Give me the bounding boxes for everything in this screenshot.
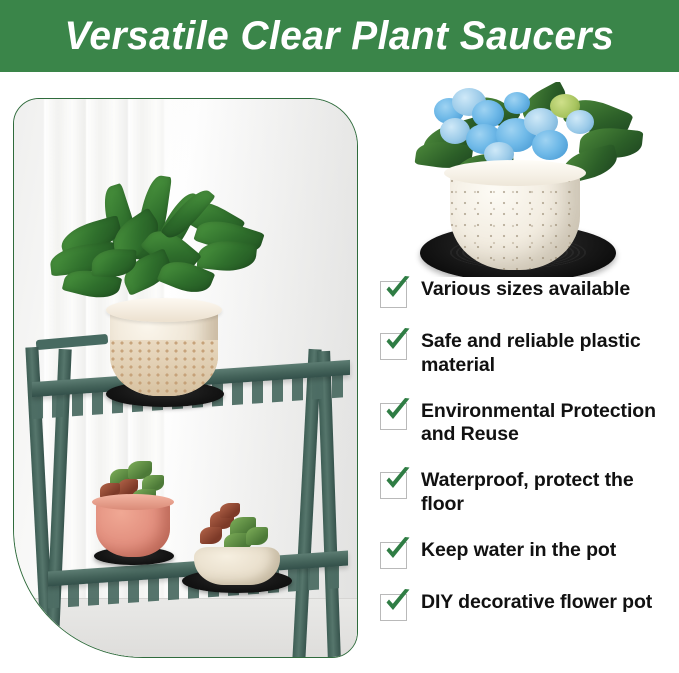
feature-item: Waterproof, protect the floor — [380, 469, 670, 517]
checkbox-checked[interactable] — [380, 472, 407, 499]
terracotta-pot-pink — [96, 499, 170, 557]
feature-item: Various sizes available — [380, 278, 670, 308]
checkmark-icon — [383, 588, 412, 617]
feature-label: Environmental Protection and Reuse — [421, 400, 670, 448]
hydrangea-photo — [398, 82, 666, 277]
speckled-ceramic-pot — [450, 168, 580, 270]
page-title: Versatile Clear Plant Saucers — [65, 16, 615, 56]
checkbox-checked[interactable] — [380, 333, 407, 360]
feature-item: Environmental Protection and Reuse — [380, 400, 670, 448]
checkmark-icon — [383, 466, 412, 495]
feature-label: Various sizes available — [421, 278, 630, 302]
checkmark-icon — [383, 536, 412, 565]
feature-label: Keep water in the pot — [421, 539, 616, 563]
feature-label: Safe and reliable plastic material — [421, 330, 670, 378]
feature-item: Safe and reliable plastic material — [380, 330, 670, 378]
ceramic-pot-lily — [110, 304, 218, 396]
feature-item: Keep water in the pot — [380, 539, 670, 569]
checkmark-icon — [383, 397, 412, 426]
stand-rail — [36, 334, 109, 350]
plant-stand-photo — [13, 98, 358, 658]
feature-list: Various sizes available Safe and reliabl… — [380, 278, 670, 643]
header-banner: Versatile Clear Plant Saucers — [0, 0, 679, 72]
checkmark-icon — [383, 275, 412, 304]
pot-rim — [92, 494, 174, 510]
checkbox-checked[interactable] — [380, 403, 407, 430]
feature-item: DIY decorative flower pot — [380, 591, 670, 621]
feature-label: Waterproof, protect the floor — [421, 469, 670, 517]
pot-rim — [106, 298, 222, 322]
checkbox-checked[interactable] — [380, 594, 407, 621]
checkmark-icon — [383, 327, 412, 356]
checkbox-checked[interactable] — [380, 281, 407, 308]
feature-label: DIY decorative flower pot — [421, 591, 652, 615]
ceramic-bowl-pot — [194, 547, 280, 585]
pot-rim — [444, 160, 586, 186]
checkbox-checked[interactable] — [380, 542, 407, 569]
